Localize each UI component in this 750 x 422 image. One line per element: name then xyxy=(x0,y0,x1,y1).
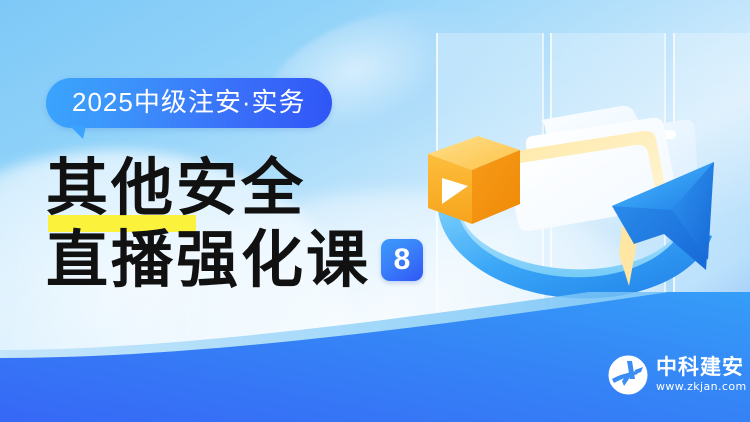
course-tag: 2025中级注安·实务 xyxy=(46,78,332,128)
brand-name: 中科建安 xyxy=(656,356,747,378)
title-line-1-text: 其他安全 xyxy=(46,151,306,224)
brand-text: 中科建安 www.zkjan.com xyxy=(656,356,747,394)
course-tag-pointer xyxy=(70,126,86,139)
title-line-2: 直播强化课 8 xyxy=(46,224,423,296)
brand-logo: 中科建安 www.zkjan.com xyxy=(608,355,747,395)
orange-cube-play-icon xyxy=(428,136,520,224)
course-tag-label: 2025中级注安·实务 xyxy=(46,78,332,128)
title-line-1: 其他安全 xyxy=(46,152,423,224)
page-title: 其他安全 直播强化课 8 xyxy=(46,152,423,296)
course-promo-banner: 2025中级注安·实务 其他安全 直播强化课 8 中科建安 www.zkjan.… xyxy=(0,0,750,422)
title-line-2-text: 直播强化课 xyxy=(46,224,371,296)
zkjan-circle-logo-icon xyxy=(608,355,648,395)
episode-badge: 8 xyxy=(381,239,423,281)
brand-url: www.zkjan.com xyxy=(656,380,747,394)
